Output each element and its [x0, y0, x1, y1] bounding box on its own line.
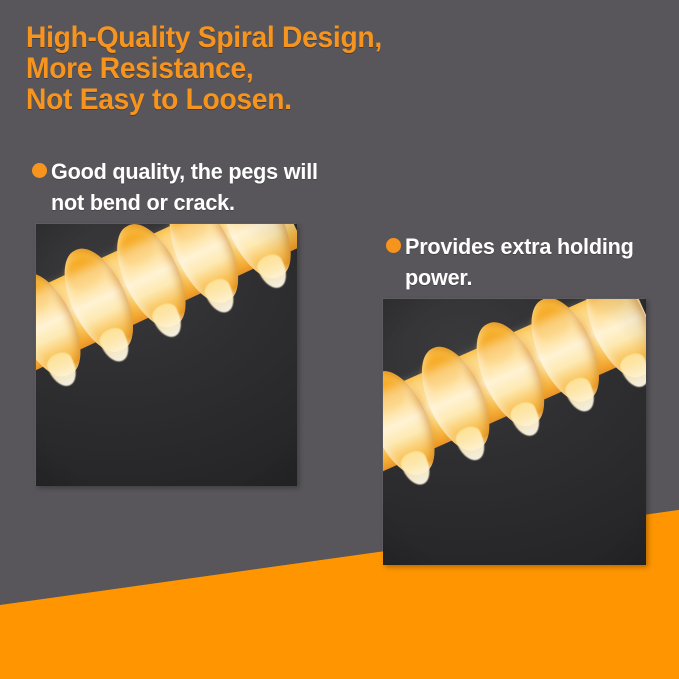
page-title-line-1: High-Quality Spiral Design, — [26, 22, 382, 53]
anchor-thread-tip — [149, 300, 187, 342]
spiral-anchor-peg-graphic — [383, 299, 646, 514]
anchor-thread-tip — [44, 349, 82, 391]
page-title-line-3: Not Easy to Loosen. — [26, 84, 382, 115]
bullet-dot-icon — [386, 238, 401, 253]
product-photo-panel-right — [383, 299, 646, 565]
feature-bullet-holding-power: Provides extra holding power. — [386, 231, 679, 293]
product-photo-panel-left — [36, 224, 297, 486]
anchor-thread-tip — [617, 350, 646, 392]
feature-bullet-quality: Good quality, the pegs will not bend or … — [32, 156, 362, 218]
panel-left-product-image — [36, 224, 297, 486]
spiral-anchor-peg-graphic — [36, 224, 297, 414]
bullet-dot-icon — [32, 163, 47, 178]
anchor-thread-tip — [562, 375, 600, 417]
anchor-thread-tip — [97, 324, 135, 366]
anchor-thread-tip — [202, 275, 240, 317]
infographic-canvas: High-Quality Spiral Design, More Resista… — [0, 0, 679, 679]
page-title: High-Quality Spiral Design, More Resista… — [26, 22, 382, 115]
anchor-thread-tip — [254, 251, 292, 293]
panel-right-product-image — [383, 299, 646, 565]
feature-bullet-holding-power-label: Provides extra holding power. — [405, 231, 634, 293]
page-title-line-2: More Resistance, — [26, 53, 382, 84]
anchor-thread-tip — [508, 399, 546, 441]
anchor-thread-tip — [453, 423, 491, 465]
anchor-thread-tip — [398, 448, 436, 490]
feature-bullet-quality-label: Good quality, the pegs will not bend or … — [51, 156, 318, 218]
